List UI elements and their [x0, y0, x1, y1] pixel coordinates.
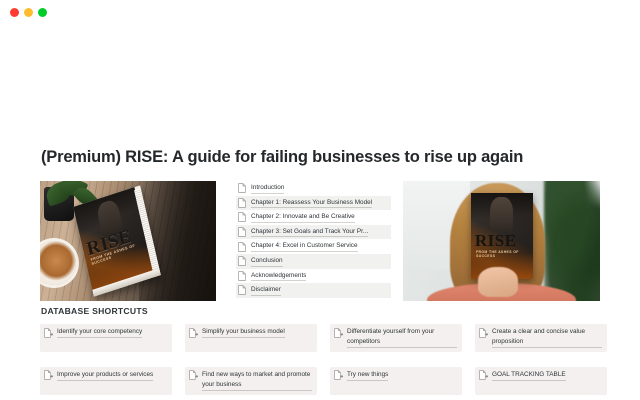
chapter-list-item-label: Chapter 4: Excel in Customer Service	[251, 241, 358, 252]
shortcut-card[interactable]: Find new ways to market and promote your…	[185, 367, 317, 395]
book-on-table-photo: RISE FROM THE ASHES OF SUCCESS	[40, 181, 216, 301]
page-link-icon	[479, 370, 488, 380]
chapter-list-item-label: Chapter 1: Reassess Your Business Model	[251, 198, 372, 209]
window-title-bar	[0, 0, 640, 24]
chapter-list-item[interactable]: Introduction	[236, 181, 391, 196]
page-link-icon	[334, 370, 343, 380]
chapter-list: Introduction Chapter 1: Reassess Your Bu…	[236, 181, 391, 298]
chapter-list-item[interactable]: Acknowledgements	[236, 269, 391, 284]
shortcut-card[interactable]: Create a clear and concise value proposi…	[475, 324, 607, 352]
page-icon	[238, 212, 246, 222]
plant-pot	[44, 187, 74, 221]
page-link-icon	[189, 328, 198, 338]
shortcut-card[interactable]: Identify your core competency	[40, 324, 172, 352]
close-window-button[interactable]	[10, 8, 19, 17]
shortcut-label: Identify your core competency	[57, 327, 142, 338]
content-columns: RISE FROM THE ASHES OF SUCCESS Introduct…	[40, 181, 600, 301]
photo-canvas-left: RISE FROM THE ASHES OF SUCCESS	[40, 181, 216, 301]
chapter-list-item-label: Conclusion	[251, 256, 283, 267]
database-shortcuts-grid: Identify your core competency Simplify y…	[40, 324, 602, 395]
shortcut-label: Try new things	[347, 370, 388, 381]
photo-canvas-right: RISE FROM THE ASHES OF SUCCESS	[403, 181, 600, 301]
person-hand	[478, 267, 518, 297]
houseplant	[544, 181, 600, 301]
document-page: (Premium) RISE: A guide for failing busi…	[0, 24, 640, 400]
shortcut-card[interactable]: Differentiate yourself from your competi…	[330, 324, 462, 352]
shortcut-label: Differentiate yourself from your competi…	[347, 327, 457, 348]
page-icon	[238, 198, 246, 208]
shortcut-card[interactable]: Improve your products or services	[40, 367, 172, 395]
book-cover-title: RISE	[475, 231, 517, 251]
page-link-icon	[189, 370, 198, 380]
chapter-list-item[interactable]: Chapter 1: Reassess Your Business Model	[236, 196, 391, 211]
shortcut-label: Create a clear and concise value proposi…	[492, 327, 602, 348]
chapter-list-item[interactable]: Conclusion	[236, 254, 391, 269]
database-shortcuts-heading: DATABASE SHORTCUTS	[41, 306, 148, 316]
zoom-window-button[interactable]	[38, 8, 47, 17]
page-link-icon	[44, 328, 53, 338]
chapter-list-item[interactable]: Chapter 2: Innovate and Be Creative	[236, 210, 391, 225]
book-cover-figure	[490, 197, 512, 231]
shortcut-label: Improve your products or services	[57, 370, 153, 381]
chapter-list-item-label: Chapter 3: Set Goals and Track Your Pr..…	[251, 227, 368, 238]
shortcut-card[interactable]: GOAL TRACKING TABLE	[475, 367, 607, 395]
shortcut-card[interactable]: Simplify your business model	[185, 324, 317, 352]
chapter-list-item-label: Introduction	[251, 183, 284, 194]
page-title: (Premium) RISE: A guide for failing busi…	[41, 148, 601, 168]
page-icon	[238, 256, 246, 266]
chapter-list-item-label: Disclaimer	[251, 285, 281, 296]
page-icon	[238, 285, 246, 295]
chapter-list-item-label: Chapter 2: Innovate and Be Creative	[251, 212, 355, 223]
minimize-window-button[interactable]	[24, 8, 33, 17]
page-link-icon	[44, 370, 53, 380]
book-cover-subtitle: FROM THE ASHES OF SUCCESS	[476, 250, 532, 258]
page-link-icon	[479, 328, 488, 338]
page-icon	[238, 183, 246, 193]
chapter-list-item[interactable]: Chapter 3: Set Goals and Track Your Pr..…	[236, 225, 391, 240]
shortcut-card[interactable]: Try new things	[330, 367, 462, 395]
shortcut-label: Find new ways to market and promote your…	[202, 370, 312, 391]
chapter-list-item[interactable]: Chapter 4: Excel in Customer Service	[236, 239, 391, 254]
person-holding-book-photo: RISE FROM THE ASHES OF SUCCESS	[403, 181, 600, 301]
page-link-icon	[334, 328, 343, 338]
page-icon	[238, 227, 246, 237]
shortcut-label: GOAL TRACKING TABLE	[492, 370, 566, 381]
page-icon	[238, 242, 246, 252]
shortcut-label: Simplify your business model	[202, 327, 285, 338]
page-icon	[238, 271, 246, 281]
chapter-list-item[interactable]: Disclaimer	[236, 283, 391, 298]
chapter-list-item-label: Acknowledgements	[251, 271, 306, 282]
